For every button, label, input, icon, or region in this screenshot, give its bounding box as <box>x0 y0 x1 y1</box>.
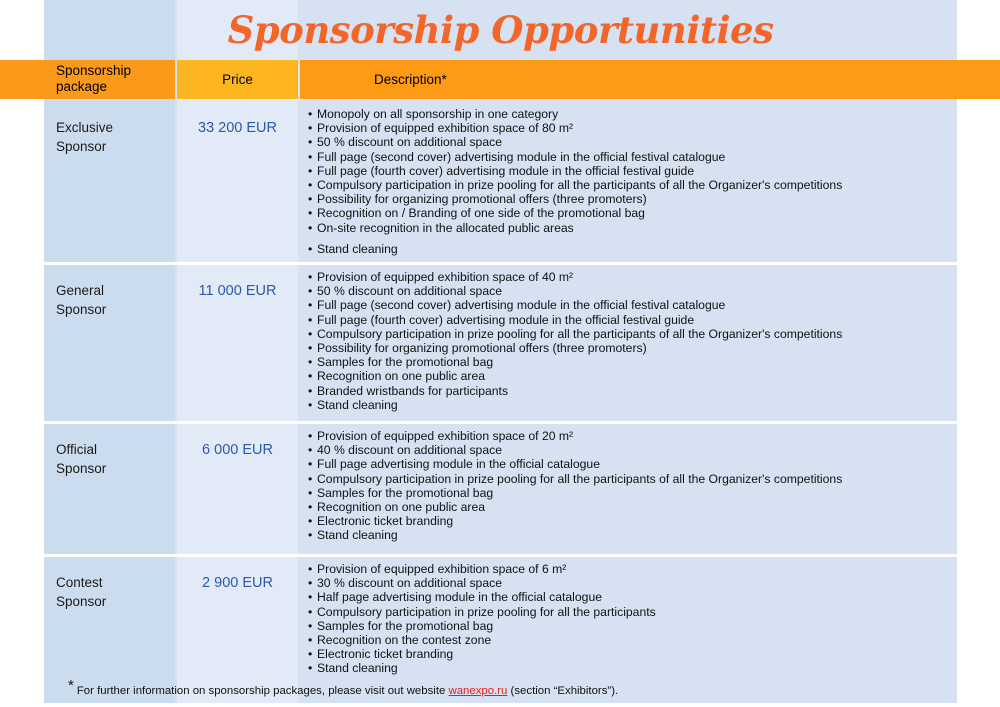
column-header-package-label: Sponsorship package <box>56 63 131 95</box>
table-row: Official Sponsor6 000 EURProvision of eq… <box>0 421 1000 554</box>
table-row: Contest Sponsor2 900 EURProvision of equ… <box>0 554 1000 699</box>
footnote-marker: * <box>68 677 74 694</box>
cell-price: 2 900 EUR <box>177 574 298 592</box>
description-bullet: Compulsory participation in prize poolin… <box>308 327 948 341</box>
description-bullet: Recognition on one public area <box>308 369 948 383</box>
description-bullet: Provision of equipped exhibition space o… <box>308 429 948 443</box>
description-bullet: Compulsory participation in prize poolin… <box>308 178 948 192</box>
table-body: Exclusive Sponsor33 200 EURMonopoly on a… <box>0 99 1000 699</box>
description-bullet: Electronic ticket branding <box>308 647 948 661</box>
description-bullet: Electronic ticket branding <box>308 514 948 528</box>
description-bullet: Recognition on / Branding of one side of… <box>308 206 948 220</box>
table-row: Exclusive Sponsor33 200 EURMonopoly on a… <box>0 99 1000 262</box>
cell-description: Provision of equipped exhibition space o… <box>308 429 948 543</box>
description-bullet: Branded wristbands for participants <box>308 384 948 398</box>
footnote-website-link[interactable]: wanexpo.ru <box>449 685 508 697</box>
table-header-row: Sponsorship package Price Description* <box>0 60 1000 99</box>
cell-price: 11 000 EUR <box>177 282 298 300</box>
description-bullet: Full page (fourth cover) advertising mod… <box>308 313 948 327</box>
cell-price: 6 000 EUR <box>177 441 298 459</box>
cell-description: Provision of equipped exhibition space o… <box>308 270 948 412</box>
page-title: Sponsorship Opportunities <box>44 8 957 52</box>
description-bullet: Possibility for organizing promotional o… <box>308 192 948 206</box>
row-separator <box>44 421 957 424</box>
footnote-text-after: (section “Exhibitors”). <box>507 685 618 697</box>
cell-package-name: General Sponsor <box>56 282 171 319</box>
description-bullet: Full page advertising module in the offi… <box>308 457 948 471</box>
column-header-price: Price <box>177 60 298 99</box>
description-bullet: Compulsory participation in prize poolin… <box>308 472 948 486</box>
cell-package-name: Official Sponsor <box>56 441 171 478</box>
description-bullet: 30 % discount on additional space <box>308 576 948 590</box>
column-header-description-label: Description* <box>374 72 447 88</box>
description-bullet: Recognition on one public area <box>308 500 948 514</box>
cell-description: Monopoly on all sponsorship in one categ… <box>308 107 948 256</box>
description-bullet: 50 % discount on additional space <box>308 284 948 298</box>
description-bullet: 40 % discount on additional space <box>308 443 948 457</box>
description-bullet: Samples for the promotional bag <box>308 486 948 500</box>
column-header-description: Description* <box>300 60 1000 99</box>
sponsorship-opportunities-page: Sponsorship Opportunities Sponsorship pa… <box>0 0 1000 707</box>
column-header-price-label: Price <box>222 72 253 88</box>
description-bullet: Stand cleaning <box>308 528 948 542</box>
description-bullet: Full page (second cover) advertising mod… <box>308 150 948 164</box>
description-bullet: 50 % discount on additional space <box>308 135 948 149</box>
cell-price: 33 200 EUR <box>177 119 298 137</box>
cell-package-name: Contest Sponsor <box>56 574 171 611</box>
cell-package-name: Exclusive Sponsor <box>56 119 171 156</box>
description-bullet: Provision of equipped exhibition space o… <box>308 562 948 576</box>
description-bullet: Samples for the promotional bag <box>308 619 948 633</box>
description-bullet: Full page (second cover) advertising mod… <box>308 298 948 312</box>
description-bullet: Stand cleaning <box>308 398 948 412</box>
description-bullet: Provision of equipped exhibition space o… <box>308 121 948 135</box>
footnote-text-before: For further information on sponsorship p… <box>77 685 449 697</box>
description-bullet: Full page (fourth cover) advertising mod… <box>308 164 948 178</box>
row-separator <box>44 262 957 265</box>
footnote: *For further information on sponsorship … <box>68 679 948 698</box>
description-bullet: Stand cleaning <box>308 242 948 256</box>
table-row: General Sponsor11 000 EURProvision of eq… <box>0 262 1000 421</box>
description-bullet: Compulsory participation in prize poolin… <box>308 605 948 619</box>
cell-description: Provision of equipped exhibition space o… <box>308 562 948 676</box>
bottom-margin <box>0 703 1000 707</box>
description-bullet: Stand cleaning <box>308 661 948 675</box>
description-bullet: On-site recognition in the allocated pub… <box>308 221 948 235</box>
description-bullet: Monopoly on all sponsorship in one categ… <box>308 107 948 121</box>
row-separator <box>44 554 957 557</box>
title-band: Sponsorship Opportunities <box>44 0 957 60</box>
description-bullet: Recognition on the contest zone <box>308 633 948 647</box>
column-header-package: Sponsorship package <box>0 60 175 99</box>
description-bullet: Samples for the promotional bag <box>308 355 948 369</box>
description-bullet: Half page advertising module in the offi… <box>308 590 948 604</box>
description-bullet: Possibility for organizing promotional o… <box>308 341 948 355</box>
description-bullet: Provision of equipped exhibition space o… <box>308 270 948 284</box>
